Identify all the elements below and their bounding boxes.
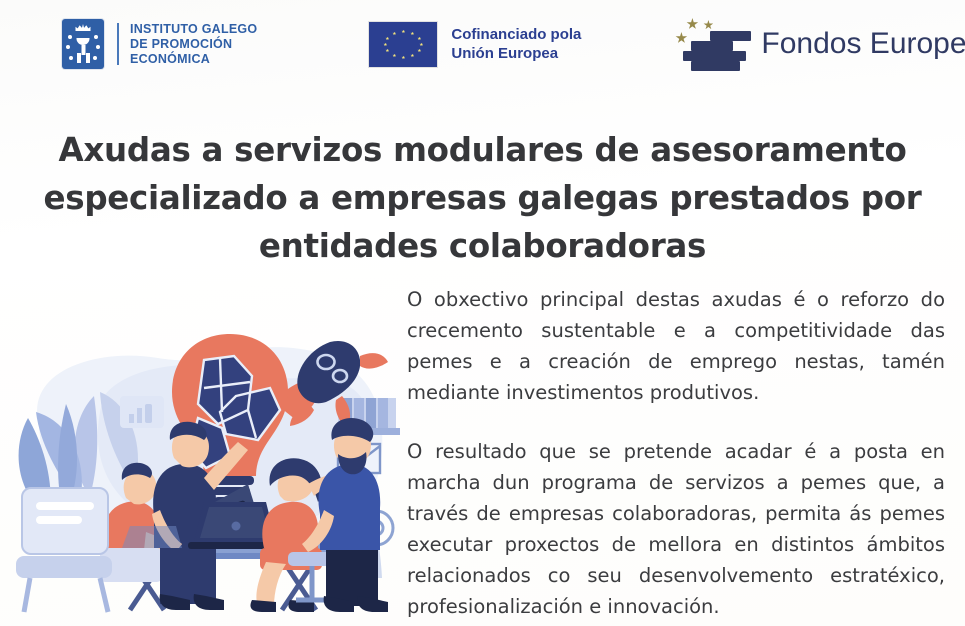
- igape-line-1: INSTITUTO GALEGO: [130, 22, 257, 37]
- shield-dot: [93, 56, 97, 60]
- igape-line-3: ECONÓMICA: [130, 52, 257, 67]
- logo-european-union: Cofinanciado pola Unión Europea: [369, 22, 581, 67]
- igape-line-2: DE PROMOCIÓN: [130, 37, 257, 52]
- team-collaboration-illustration: [8, 300, 400, 618]
- chalice-shape: [77, 38, 90, 55]
- logo-bar: INSTITUTO GALEGO DE PROMOCIÓN ECONÓMICA: [0, 0, 965, 88]
- eu-star: [419, 43, 423, 47]
- eu-star: [417, 37, 421, 41]
- eu-flag-icon: [369, 22, 437, 67]
- fe-star: [686, 18, 698, 30]
- body-copy: O obxectivo principal destas axudas é o …: [407, 284, 945, 622]
- fondos-europeos-mark-icon: [673, 15, 751, 73]
- crown-shape: [76, 24, 91, 31]
- eu-star: [385, 37, 389, 41]
- chart-bar: [129, 414, 134, 423]
- fe-bar: [710, 31, 751, 41]
- fe-bar: [701, 51, 746, 61]
- fe-bar: [691, 41, 733, 51]
- fe-star: [675, 32, 687, 44]
- eu-star: [401, 30, 405, 34]
- galicia-coat-of-arms-icon: [62, 19, 104, 69]
- eu-star: [385, 49, 389, 53]
- paragraph-2: O resultado que se pretende acadar é a p…: [407, 436, 945, 622]
- page-title: Axudas a servizos modulares de asesorame…: [32, 126, 933, 270]
- poster-page: INSTITUTO GALEGO DE PROMOCIÓN ECONÓMICA: [0, 0, 965, 626]
- laptop-icon-secondary: [122, 526, 182, 548]
- shield-dot: [68, 35, 72, 39]
- shield-dot: [94, 35, 98, 39]
- chart-bar: [137, 408, 142, 423]
- shield-dot: [69, 56, 73, 60]
- shield-dot: [66, 45, 70, 49]
- eu-star: [392, 32, 396, 36]
- shield-dot: [96, 45, 100, 49]
- eu-line-1: Cofinanciado pola: [451, 25, 581, 44]
- chair-shape: [16, 488, 112, 612]
- logo-igape-text: INSTITUTO GALEGO DE PROMOCIÓN ECONÓMICA: [130, 22, 257, 67]
- fe-star: [703, 20, 713, 30]
- eu-star: [401, 56, 405, 60]
- eu-star: [392, 54, 396, 58]
- fe-bar: [691, 61, 740, 71]
- eu-star: [383, 43, 387, 47]
- logo-fondos-europeos: Fondos Europeos: [673, 15, 965, 73]
- logo-divider: [117, 23, 119, 65]
- logo-fondos-europeos-label: Fondos Europeos: [761, 29, 965, 59]
- eu-star: [410, 54, 414, 58]
- paragraph-1: O obxectivo principal destas axudas é o …: [407, 284, 945, 408]
- eu-line-2: Unión Europea: [451, 44, 581, 63]
- chart-bar: [145, 404, 152, 423]
- logo-eu-text: Cofinanciado pola Unión Europea: [451, 25, 581, 63]
- eu-star: [410, 32, 414, 36]
- eu-star: [417, 49, 421, 53]
- logo-igape: INSTITUTO GALEGO DE PROMOCIÓN ECONÓMICA: [62, 19, 257, 69]
